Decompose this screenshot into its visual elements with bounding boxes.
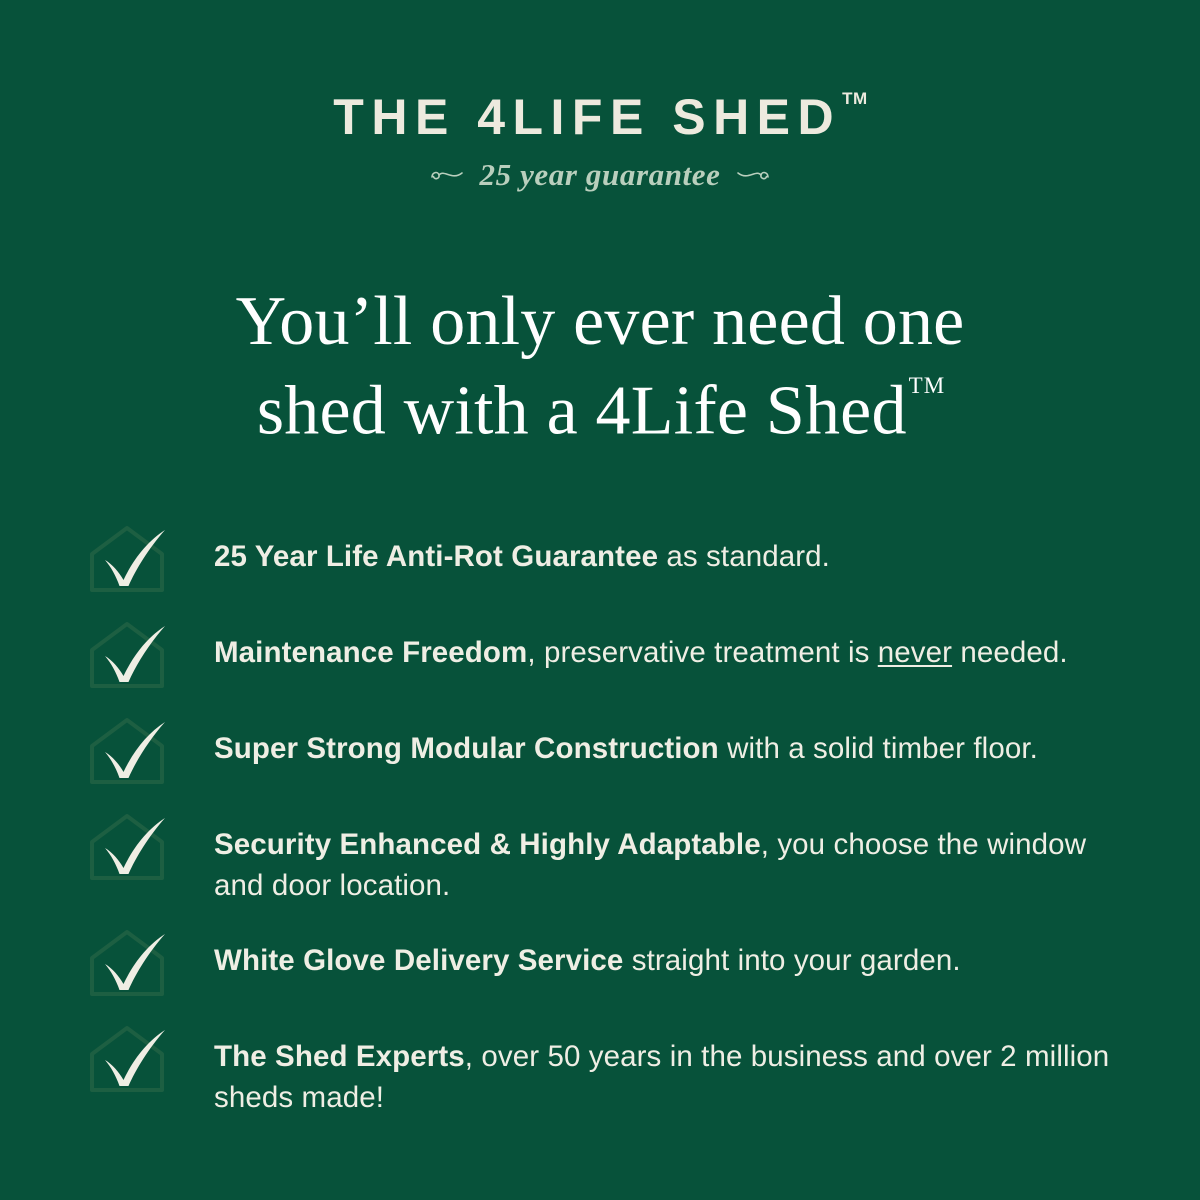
brand-tagline-text: 25 year guarantee	[480, 159, 721, 190]
benefit-text: 25 Year Life Anti-Rot Guarantee as stand…	[214, 528, 830, 577]
benefit-text: The Shed Experts, over 50 years in the b…	[214, 1028, 1114, 1118]
benefit-item-1: 25 Year Life Anti-Rot Guarantee as stand…	[86, 528, 1126, 598]
house-check-icon	[86, 524, 168, 598]
house-check-icon	[86, 928, 168, 1002]
benefit-rest: , preservative treatment is	[527, 636, 877, 669]
headline-trademark-symbol: TM	[909, 373, 946, 398]
house-check-icon	[86, 812, 168, 886]
brand-trademark-symbol: TM	[842, 89, 868, 108]
benefit-tail: needed.	[952, 636, 1068, 669]
page-title: You’ll only ever need one shed with a 4L…	[0, 282, 1200, 451]
benefit-item-4: Security Enhanced & Highly Adaptable, yo…	[86, 816, 1126, 906]
benefit-item-3: Super Strong Modular Construction with a…	[86, 720, 1126, 790]
benefit-item-2: Maintenance Freedom, preservative treatm…	[86, 624, 1126, 694]
benefit-lead: 25 Year Life Anti-Rot Guarantee	[214, 540, 658, 573]
brand-tagline-row: 25 year guarantee	[0, 159, 1200, 190]
house-check-icon	[86, 1024, 168, 1098]
brand-title: THE 4LIFE SHEDTM	[333, 92, 866, 142]
benefit-item-6: The Shed Experts, over 50 years in the b…	[86, 1028, 1126, 1118]
headline-line-2: shed with a 4Life ShedTM	[0, 362, 1200, 451]
benefit-lead: Maintenance Freedom	[214, 636, 527, 669]
benefit-lead: Security Enhanced & Highly Adaptable	[214, 828, 761, 861]
benefit-rest: as standard.	[658, 540, 830, 573]
benefit-lead: White Glove Delivery Service	[214, 944, 623, 977]
benefit-text: Security Enhanced & Highly Adaptable, yo…	[214, 816, 1114, 906]
benefit-text: Maintenance Freedom, preservative treatm…	[214, 624, 1068, 673]
brand-title-text: THE 4LIFE SHED	[333, 89, 841, 145]
benefit-text: Super Strong Modular Construction with a…	[214, 720, 1038, 769]
promo-poster: THE 4LIFE SHEDTM 25 year guarantee You’l…	[0, 0, 1200, 1200]
swash-ornament-left-icon	[430, 166, 464, 184]
house-check-icon	[86, 716, 168, 790]
benefit-underline: never	[878, 636, 952, 669]
benefits-list: 25 Year Life Anti-Rot Guarantee as stand…	[86, 528, 1126, 1118]
benefit-text: White Glove Delivery Service straight in…	[214, 932, 961, 981]
benefit-item-5: White Glove Delivery Service straight in…	[86, 932, 1126, 1002]
brand-lockup: THE 4LIFE SHEDTM 25 year guarantee	[0, 92, 1200, 190]
benefit-rest: straight into your garden.	[623, 944, 960, 977]
house-check-icon	[86, 620, 168, 694]
swash-ornament-right-icon	[736, 166, 770, 184]
benefit-lead: The Shed Experts	[214, 1040, 465, 1073]
benefit-lead: Super Strong Modular Construction	[214, 732, 719, 765]
headline-line-2-text: shed with a 4Life Shed	[257, 372, 907, 449]
headline-line-1: You’ll only ever need one	[0, 282, 1200, 362]
benefit-rest: with a solid timber floor.	[719, 732, 1038, 765]
